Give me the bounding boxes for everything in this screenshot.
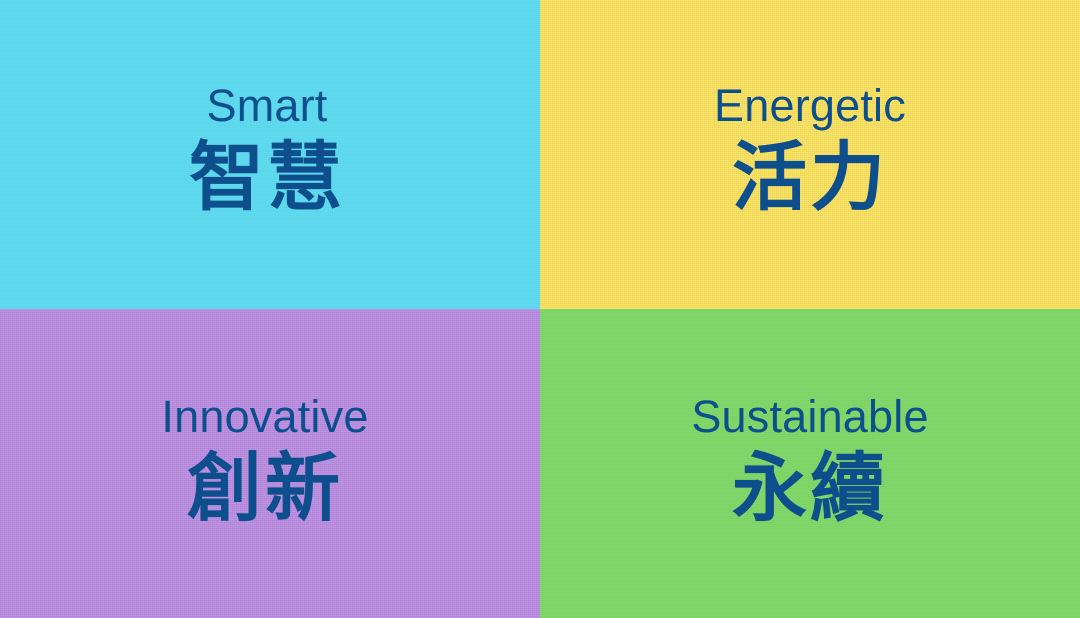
quadrant-energetic-label-cjk: 活力 bbox=[732, 140, 888, 215]
quadrant-smart-label-en: Smart bbox=[206, 83, 327, 128]
quadrant-sustainable-label-cjk: 永續 bbox=[732, 451, 888, 526]
quadrant-innovative-label-en: Innovative bbox=[161, 394, 368, 439]
quadrant-innovative-label-cjk: 創新 bbox=[187, 451, 343, 526]
quadrant-innovative: Innovative 創新 bbox=[0, 309, 540, 618]
quadrant-sustainable: Sustainable 永續 bbox=[540, 309, 1080, 618]
quadrant-smart-text-block: Smart 智慧 bbox=[189, 83, 345, 215]
quadrant-sustainable-label-en: Sustainable bbox=[691, 394, 928, 439]
quadrant-smart-label-cjk: 智慧 bbox=[189, 140, 345, 215]
brand-values-poster: Smart 智慧 Energetic 活力 Innovative 創新 Sust… bbox=[0, 0, 1080, 618]
quadrant-sustainable-text-block: Sustainable 永續 bbox=[691, 394, 928, 526]
quadrant-energetic-text-block: Energetic 活力 bbox=[714, 83, 906, 215]
quadrant-energetic: Energetic 活力 bbox=[540, 0, 1080, 309]
quadrant-energetic-label-en: Energetic bbox=[714, 83, 906, 128]
quadrant-innovative-text-block: Innovative 創新 bbox=[161, 394, 368, 526]
quadrant-smart: Smart 智慧 bbox=[0, 0, 540, 309]
